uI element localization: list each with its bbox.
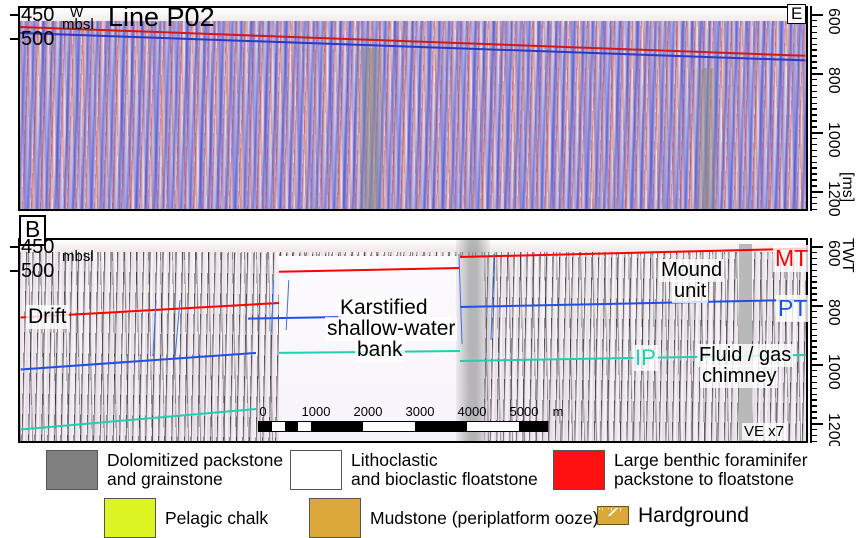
twt-minor-tick (810, 49, 817, 51)
legend-text-hardground: Hardground (638, 506, 749, 525)
annotation-mound-line2: unit (672, 280, 708, 303)
scale-tick-4000: 4000 (458, 404, 487, 419)
twt-minor-tick (810, 293, 817, 295)
twt-minor-tick (810, 61, 817, 63)
legend-text-lithoclastic: Lithoclastic and bioclastic floatstone (351, 451, 538, 489)
twt-minor-tick (810, 91, 817, 93)
twt-minor-tick (810, 20, 817, 22)
twt-minor-tick (810, 311, 817, 313)
twt-minor-tick (810, 323, 817, 325)
depth-tick-450-b (10, 246, 20, 248)
twt-minor-tick (810, 185, 817, 187)
scale-tick-1000: 1000 (302, 404, 331, 419)
twt-minor-tick (810, 376, 817, 378)
twt-minor-tick (810, 435, 817, 437)
legend-text-mudstone: Mudstone (periplatform ooze) (370, 509, 599, 528)
twt-label-1000-a: 1000 (824, 122, 842, 158)
figure-root: W E Line P02 450 mbsl 500 600 800 1000 1… (0, 0, 856, 531)
twt-label-1000-b: 1000 (824, 354, 842, 390)
depth-label-500-a: 500 (21, 28, 54, 51)
legend-text-benthic-foraminifer: Large benthic foraminifer packstone to f… (614, 451, 808, 489)
twt-minor-tick (810, 120, 817, 122)
scale-bar-numbers: 0 1000 2000 3000 4000 5000 m (258, 404, 548, 421)
twt-minor-tick (810, 85, 817, 87)
twt-minor-tick (810, 203, 817, 205)
legend-label-lithoclastic-line2: and bioclastic floatstone (351, 470, 538, 489)
legend-item-dolomitized-packstone: Dolomitized packstone and grainstone (46, 450, 283, 490)
annotation-horizon-ip: IP (633, 345, 658, 371)
twt-minor-tick (810, 423, 817, 425)
twt-minor-tick (810, 73, 817, 75)
legend-row-1: Dolomitized packstone and grainstone Lit… (0, 450, 856, 492)
depth-label-500-b: 500 (21, 260, 54, 283)
twt-minor-tick (810, 382, 817, 384)
legend-swatch-dolomitized (46, 450, 98, 490)
legend-item-hardground: Hardground (597, 506, 749, 525)
legend-label-dolomitized-line2: and grainstone (107, 470, 283, 489)
twt-minor-tick (810, 162, 817, 164)
twt-minor-tick (810, 209, 817, 211)
annotation-horizon-pt: PT (776, 295, 809, 322)
twt-label-800-b: 800 (824, 299, 842, 326)
legend-swatch-mudstone (309, 498, 361, 538)
twt-minor-tick (810, 44, 817, 46)
legend-label-lithoclastic-line1: Lithoclastic (351, 451, 538, 470)
twt-minor-tick (810, 132, 817, 134)
twt-minor-tick (810, 405, 817, 407)
scale-bar: 0 1000 2000 3000 4000 5000 m (258, 404, 548, 432)
twt-minor-tick (810, 252, 817, 254)
scale-tick-0: 0 (259, 404, 266, 419)
legend-swatch-pelagic-chalk (104, 498, 156, 538)
twt-minor-tick (810, 299, 817, 301)
twt-minor-tick (810, 156, 817, 158)
twt-minor-tick (810, 167, 817, 169)
twt-minor-tick (810, 270, 817, 272)
twt-minor-tick (810, 358, 817, 360)
legend-text-pelagic-chalk: Pelagic chalk (165, 509, 268, 528)
hardground-icon (597, 506, 629, 525)
twt-minor-tick (810, 417, 817, 419)
twt-minor-tick (810, 287, 817, 289)
scale-bar-graphic (258, 421, 548, 432)
twt-minor-tick (810, 340, 817, 342)
twt-minor-tick (810, 138, 817, 140)
twt-minor-tick (810, 394, 817, 396)
legend-item-benthic-foraminifer: Large benthic foraminifer packstone to f… (553, 450, 808, 490)
annotation-chimney-line1: Fluid / gas (697, 344, 793, 367)
twt-minor-tick (810, 67, 817, 69)
twt-minor-tick (810, 126, 817, 128)
legend-label-dolomitized-line1: Dolomitized packstone (107, 451, 283, 470)
twt-minor-tick (810, 55, 817, 57)
legend-swatch-benthic-foraminifer (553, 450, 605, 490)
twt-minor-tick (810, 114, 817, 116)
annotation-vertical-exaggeration: VE x7 (742, 423, 786, 440)
twt-minor-tick (810, 364, 817, 366)
annotation-drift: Drift (26, 305, 69, 329)
twt-unit-b: TWT (838, 238, 856, 273)
twt-minor-tick (810, 14, 817, 16)
legend-label-pelagic-chalk: Pelagic chalk (165, 509, 268, 528)
twt-minor-tick (810, 26, 817, 28)
twt-minor-tick (810, 150, 817, 152)
twt-minor-tick (810, 346, 817, 348)
legend-item-lithoclastic: Lithoclastic and bioclastic floatstone (290, 450, 538, 490)
chimney-zone-a2 (696, 68, 718, 209)
twt-minor-tick (810, 370, 817, 372)
twt-minor-tick (810, 103, 817, 105)
twt-minor-tick (810, 276, 817, 278)
twt-minor-tick (810, 246, 817, 248)
legend-item-mudstone: Mudstone (periplatform ooze) (309, 498, 599, 538)
annotation-karst-line3: bank (355, 338, 405, 362)
legend-label-benthic-line1: Large benthic foraminifer (614, 451, 808, 470)
twt-minor-tick (810, 79, 817, 81)
twt-minor-tick (810, 441, 817, 443)
depth-tick-500-a (10, 38, 20, 40)
legend-text-dolomitized: Dolomitized packstone and grainstone (107, 451, 283, 489)
legend-row-2: Pelagic chalk Mudstone (periplatform ooz… (0, 498, 856, 538)
twt-minor-tick (810, 97, 817, 99)
figure-title: Line P02 (108, 2, 215, 33)
twt-minor-tick (810, 144, 817, 146)
twt-minor-tick (810, 429, 817, 431)
depth-unit-b: mbsl (62, 248, 94, 265)
twt-minor-tick (810, 32, 817, 34)
twt-minor-tick (810, 173, 817, 175)
legend-label-benthic-line2: packstone to floatstone (614, 470, 808, 489)
twt-unit-a: [ms] (838, 172, 856, 202)
twt-minor-tick (810, 197, 817, 199)
direction-east-label: E (787, 4, 806, 24)
annotation-horizon-mt: MT (773, 245, 810, 272)
legend-swatch-lithoclastic (290, 450, 342, 490)
scale-unit: m (553, 404, 564, 419)
legend-item-pelagic-chalk: Pelagic chalk (104, 498, 268, 538)
depth-tick-500-b (10, 270, 20, 272)
legend-label-hardground: Hardground (638, 506, 749, 525)
scale-tick-3000: 3000 (406, 404, 435, 419)
twt-minor-tick (810, 399, 817, 401)
twt-label-1200-b: 1200 (824, 413, 842, 449)
twt-minor-tick (810, 38, 817, 40)
twt-minor-tick (810, 264, 817, 266)
depth-tick-450-a (10, 14, 20, 16)
twt-minor-tick (810, 335, 817, 337)
panel-seismic-amplitude (18, 6, 808, 211)
twt-label-600-a: 600 (824, 8, 842, 35)
twt-minor-tick (810, 281, 817, 283)
chimney-zone-a1 (358, 48, 384, 209)
scale-tick-2000: 2000 (354, 404, 383, 419)
twt-minor-tick (810, 179, 817, 181)
twt-minor-tick (810, 258, 817, 260)
annotation-chimney-line2: chimney (700, 365, 778, 388)
scale-tick-5000: 5000 (510, 404, 539, 419)
twt-minor-tick (810, 317, 817, 319)
depth-label-450-b: 450 (21, 236, 54, 259)
twt-minor-tick (810, 352, 817, 354)
legend: Dolomitized packstone and grainstone Lit… (0, 446, 856, 531)
twt-minor-tick (810, 305, 817, 307)
twt-label-800-a: 800 (824, 67, 842, 94)
twt-minor-tick (810, 411, 817, 413)
depth-unit-a: mbsl (62, 16, 94, 33)
twt-minor-tick (810, 329, 817, 331)
twt-minor-tick (810, 388, 817, 390)
depth-label-450-a: 450 (21, 4, 54, 27)
twt-minor-tick (810, 108, 817, 110)
twt-minor-tick (810, 191, 817, 193)
legend-label-mudstone: Mudstone (periplatform ooze) (370, 509, 599, 528)
annotation-mound-line1: Mound (659, 259, 724, 282)
